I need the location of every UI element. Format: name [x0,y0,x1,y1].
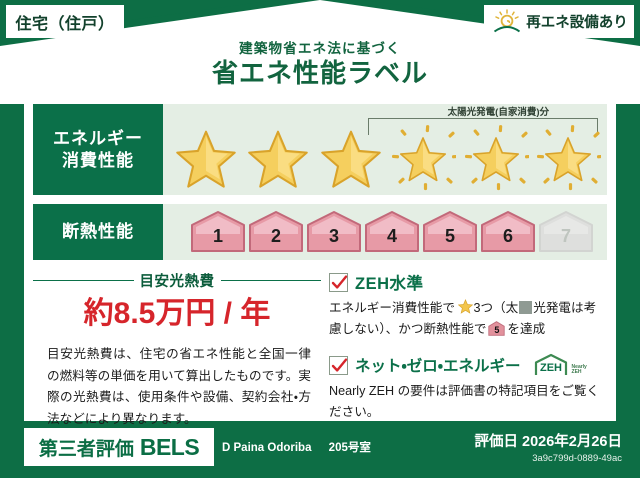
insulation-performance-label: 断熱性能 [33,204,163,260]
net-zero-title: ネット・ゼロ・エネルギー [355,354,521,376]
energy-label-card: 住宅（住戸） 再エネ設備あり 建築物省エネ法に基づく 省エネ性能ラベル [0,0,640,478]
zeh-standard-heading: ZEH水準 [329,270,607,294]
energy-label-line1: エネルギー [53,128,143,149]
bels-logo-jp: 第三者評価 [39,434,134,461]
net-zero-text: Nearly ZEH の要件は評価書の特記項目をご覧ください。 [329,381,607,423]
svg-text:ZEH: ZEH [540,362,562,374]
redacted-character [519,301,532,314]
sun-icon [492,9,522,35]
heading-rule-right [221,280,322,282]
label-title-main: 省エネ性能ラベル [0,59,640,89]
zeh-standard-text-part4: を達成 [507,322,545,336]
zeh-standard-text-part2: 3つ（太 [473,301,518,315]
insulation-grade-number: 7 [538,210,594,254]
insulation-grade-house: 1 [190,210,246,254]
zeh-standard-block: ZEH水準 エネルギー消費性能で 3つ（太光発電は考慮しない）、かつ断熱性能で … [329,270,607,340]
net-zero-energy-block: ネット・ゼロ・エネルギー ZEH Nearly ZEH [329,353,607,423]
zeh-standard-text-part1: エネルギー消費性能で [329,301,455,315]
utility-cost-value: 約8.5万円 / 年 [33,297,321,330]
energy-performance-label: エネルギー 消費性能 [33,104,163,195]
energy-performance-row: エネルギー 消費性能 太陽光発電(自家消費)分 [33,104,607,195]
insulation-grade-house: 7 [538,210,594,254]
check-icon [329,356,348,375]
energy-stars-area: 太陽光発電(自家消費)分 [163,104,607,195]
star-icon [390,125,456,191]
bels-logo: 第三者評価 BELS [24,428,214,466]
star-icon [463,125,529,191]
lower-content: 目安光熱費 約8.5万円 / 年 目安光熱費は、住宅の省エネ性能と全国一律の燃料… [33,268,607,413]
evaluation-id: 3a9c799d-0889-49ac [475,453,622,464]
zeh-logo: ZEH Nearly ZEH [532,353,587,377]
insulation-grade-house: 2 [248,210,304,254]
energy-star [533,125,603,191]
evaluation-date: 評価日 2026年2月26日 [475,430,622,451]
renewable-energy-label: 再エネ設備あり [526,11,628,32]
insulation-grade-number: 1 [190,210,246,254]
insulation-grade-house: 4 [364,210,420,254]
house-icon-grade: 5 [488,321,505,336]
insulation-grade-number: 2 [248,210,304,254]
insulation-grade-house: 6 [480,210,536,254]
label-footer: 第三者評価 BELS D Paina Odoriba 205号室 評価日 202… [0,424,640,478]
label-title-subtitle: 建築物省エネ法に基づく [0,42,640,56]
label-title-block: 建築物省エネ法に基づく 省エネ性能ラベル [0,42,640,88]
evaluation-info: 評価日 2026年2月26日 3a9c799d-0889-49ac [475,430,622,464]
energy-star [461,125,531,191]
star-icon [458,299,473,314]
zeh-standard-title: ZEH水準 [355,270,424,294]
insulation-grade-number: 6 [480,210,536,254]
building-type-label: 住宅（住戸） [15,10,114,34]
property-info: D Paina Odoriba 205号室 [222,439,371,455]
label-body-card: エネルギー 消費性能 太陽光発電(自家消費)分 断熱性能 1234567 目安光… [24,96,616,421]
zeh-logo-sub-line2: ZEH [572,369,582,375]
bels-logo-en: BELS [140,434,199,461]
heading-rule-left [33,280,134,282]
star-icon [173,125,239,191]
insulation-grade-house: 5 [422,210,478,254]
star-icon [535,125,601,191]
utility-cost-heading: 目安光熱費 [33,270,321,291]
energy-label-line2: 消費性能 [62,150,134,171]
renewable-energy-badge: 再エネ設備あり [484,5,634,38]
utility-cost-note: 目安光熱費は、住宅の省エネ性能と全国一律の燃料等の単価を用いて算出したものです。… [47,344,311,431]
net-zero-heading: ネット・ゼロ・エネルギー ZEH Nearly ZEH [329,353,607,377]
property-room-number: 205号室 [329,442,371,454]
energy-star [316,125,386,191]
star-icon [245,125,311,191]
property-name: D Paina Odoriba [222,442,311,454]
insulation-grade-number: 3 [306,210,362,254]
utility-cost-column: 目安光熱費 約8.5万円 / 年 目安光熱費は、住宅の省エネ性能と全国一律の燃料… [33,268,321,413]
insulation-performance-row: 断熱性能 1234567 [33,204,607,260]
utility-cost-heading-text: 目安光熱費 [140,270,215,291]
energy-star [171,125,241,191]
house-icon: 5 [488,321,505,336]
solar-bracket-label: 太陽光発電(自家消費)分 [444,104,553,118]
energy-star [388,125,458,191]
energy-stars-row [171,125,603,191]
insulation-grade-scale: 1234567 [163,204,607,260]
insulation-grade-house: 3 [306,210,362,254]
check-icon [329,273,348,292]
energy-star [243,125,313,191]
building-type-badge: 住宅（住戸） [6,5,124,38]
zeh-logo-subtext: Nearly ZEH [572,365,587,378]
zeh-standard-text: エネルギー消費性能で 3つ（太光発電は考慮しない）、かつ断熱性能で 5 を達成 [329,298,607,340]
zeh-column: ZEH水準 エネルギー消費性能で 3つ（太光発電は考慮しない）、かつ断熱性能で … [321,268,607,413]
star-icon [318,125,384,191]
insulation-label-text: 断熱性能 [62,221,134,242]
insulation-grade-number: 5 [422,210,478,254]
insulation-grade-number: 4 [364,210,420,254]
